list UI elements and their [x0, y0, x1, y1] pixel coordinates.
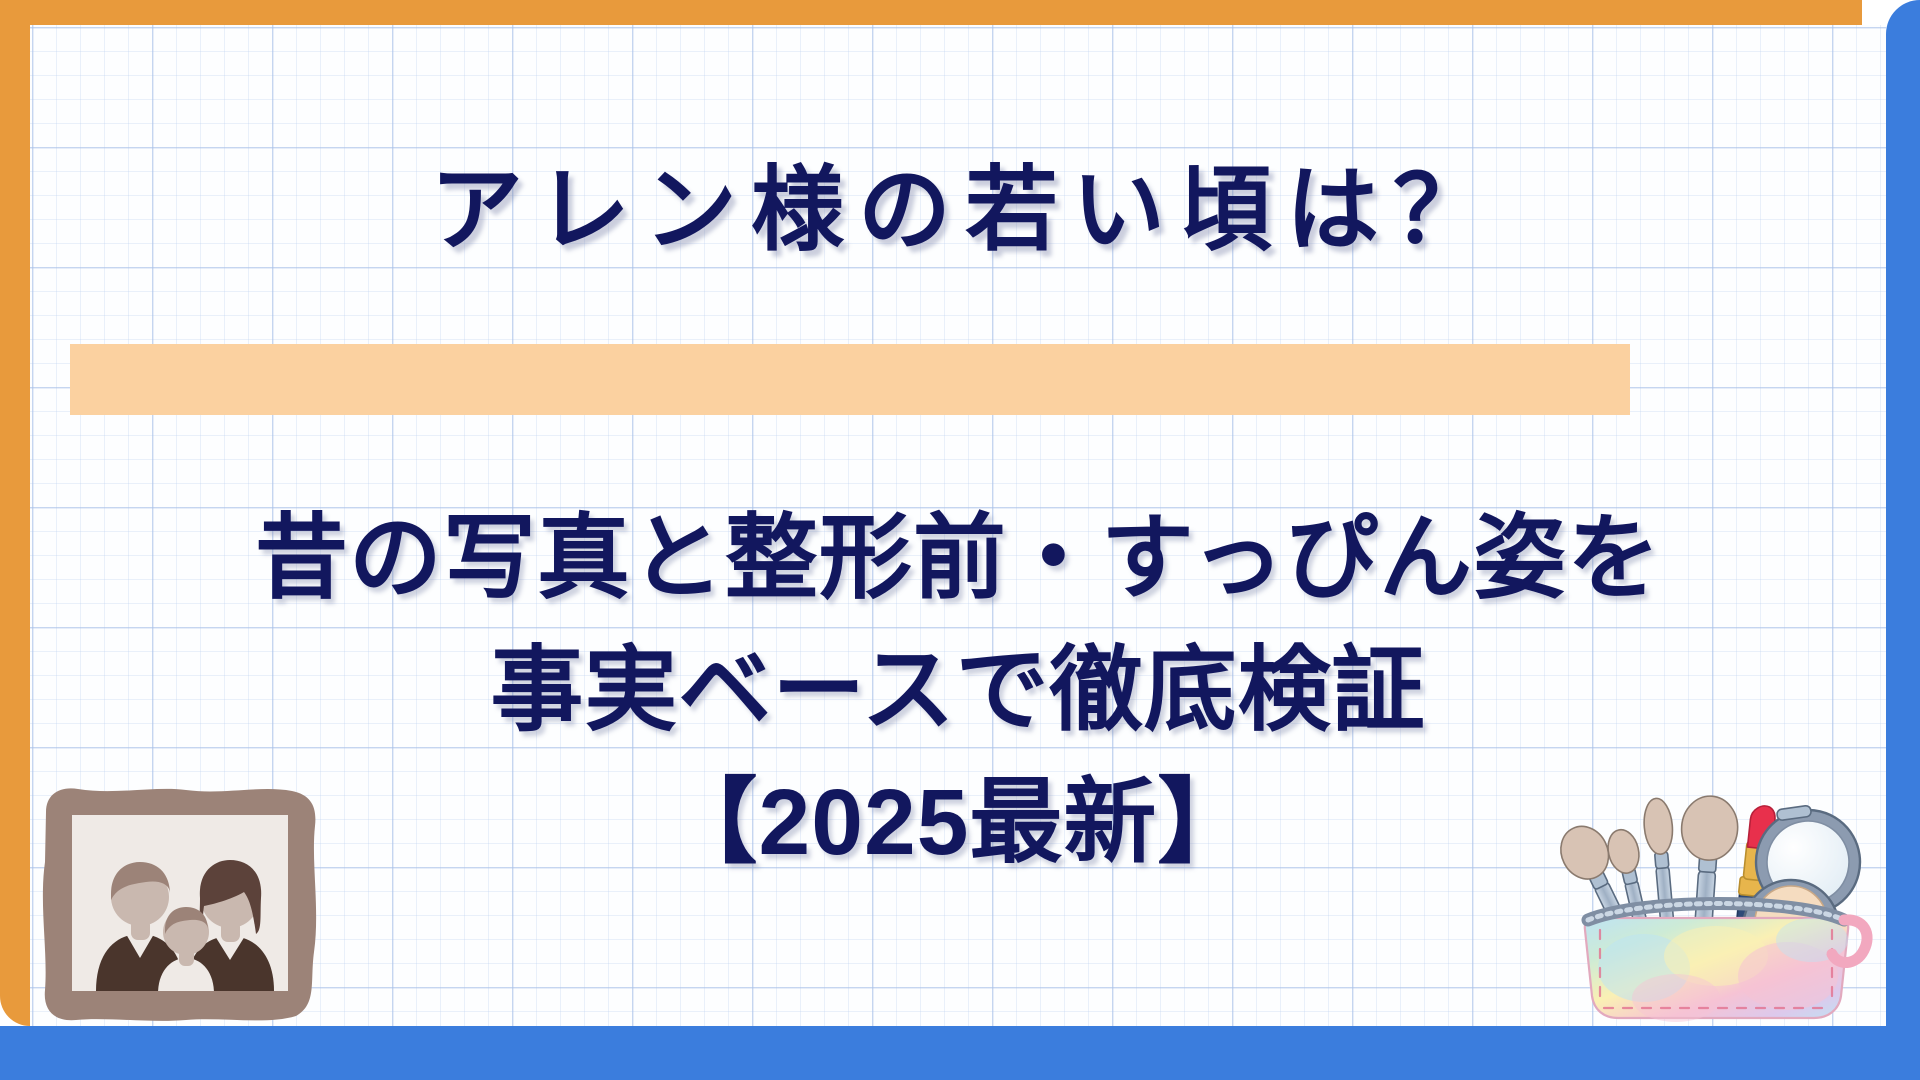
makeup-pouch-icon	[1556, 770, 1876, 1026]
subtitle-line-1: 昔の写真と整形前・すっぴん姿を	[30, 492, 1886, 624]
highlight-band	[70, 344, 1630, 415]
highlight-band-text	[70, 344, 1630, 415]
subtitle-line-2: 事実ベースで徹底検証	[30, 624, 1886, 756]
headline-title: アレン様の若い頃は？	[30, 158, 1886, 262]
thumbnail-canvas: アレン様の若い頃は？ 昔の写真と整形前・すっぴん姿を 事実ベースで徹底検証 【2…	[0, 0, 1920, 1080]
family-photo-frame-icon	[34, 782, 324, 1026]
content-layer: アレン様の若い頃は？ 昔の写真と整形前・すっぴん姿を 事実ベースで徹底検証 【2…	[0, 0, 1920, 1080]
